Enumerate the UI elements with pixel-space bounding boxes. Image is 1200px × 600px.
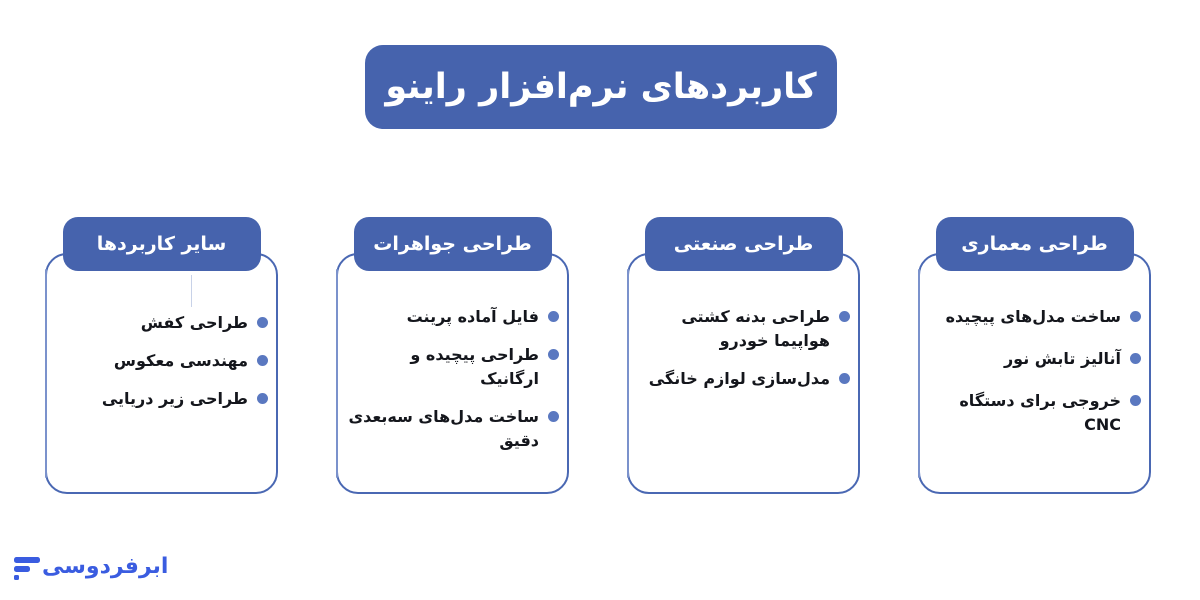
card-body-architectural-design: ساخت مدل‌های پیچیده آنالیز تابش نور خروج… [928,305,1141,451]
bullet-icon [548,349,559,360]
list-item-label: طراحی کفش [55,311,248,335]
bullet-icon [1130,353,1141,364]
infographic-canvas: کاربردهای نرم‌افزار راینو سایر کاربردها … [0,0,1200,600]
bullet-icon [548,411,559,422]
list-item-label: آنالیز تابش نور [928,347,1121,371]
bullet-icon [839,311,850,322]
card-title: طراحی جواهرات [373,233,531,256]
bullet-icon [257,317,268,328]
card-body-jewelry-design: فایل آماده پرینت طراحی پیچیده و ارگانیک … [346,305,559,467]
card-body-other-applications: طراحی کفش مهندسی معکوس طراحی زیر دریایی [55,311,268,425]
list-item-label: طراحی زیر دریایی [55,387,248,411]
card-architectural-design: طراحی معماری ساخت مدل‌های پیچیده آنالیز … [918,253,1151,494]
card-industrial-design: طراحی صنعتی طراحی بدنه کشتی هواپیما خودر… [627,253,860,494]
list-item: مدل‌سازی لوازم خانگی [637,367,850,391]
list-item: ساخت مدل‌های پیچیده [928,305,1141,329]
three-bars-icon [12,552,42,582]
list-item-label: مهندسی معکوس [55,349,248,373]
list-item-label: ساخت مدل‌های پیچیده [928,305,1121,329]
card-header-other-applications: سایر کاربردها [63,217,261,271]
list-item-label: فایل آماده پرینت [346,305,539,329]
list-item: فایل آماده پرینت [346,305,559,329]
card-title: طراحی معماری [961,233,1107,256]
card-title: سایر کاربردها [97,233,227,256]
bullet-icon [1130,395,1141,406]
list-item: آنالیز تابش نور [928,347,1141,371]
page-title: کاربردهای نرم‌افزار راینو [385,66,816,108]
list-item: طراحی بدنه کشتی هواپیما خودرو [637,305,850,353]
card-header-architectural-design: طراحی معماری [936,217,1134,271]
list-item-label: مدل‌سازی لوازم خانگی [637,367,830,391]
card-body-industrial-design: طراحی بدنه کشتی هواپیما خودرو مدل‌سازی ل… [637,305,850,405]
list-item: خروجی برای دستگاه CNC [928,389,1141,437]
list-item-label: طراحی پیچیده و ارگانیک [346,343,539,391]
brand-logo[interactable]: ابرفردوسی [12,552,178,582]
list-item: طراحی پیچیده و ارگانیک [346,343,559,391]
card-jewelry-design: طراحی جواهرات فایل آماده پرینت طراحی پیچ… [336,253,569,494]
bullet-icon [548,311,559,322]
list-item: ساخت مدل‌های سه‌بعدی دقیق [346,405,559,453]
page-title-banner: کاربردهای نرم‌افزار راینو [365,45,837,129]
cards-row: سایر کاربردها طراحی کفش مهندسی معکوس طرا… [0,205,1200,505]
card-header-industrial-design: طراحی صنعتی [645,217,843,271]
list-item: مهندسی معکوس [55,349,268,373]
card-title: طراحی صنعتی [674,233,814,256]
card-other-applications: سایر کاربردها طراحی کفش مهندسی معکوس طرا… [45,253,278,494]
bullet-icon [257,355,268,366]
bullet-icon [839,373,850,384]
brand-name: ابرفردوسی [42,556,168,578]
card-header-jewelry-design: طراحی جواهرات [354,217,552,271]
bullet-icon [1130,311,1141,322]
list-item: طراحی کفش [55,311,268,335]
list-item-label: طراحی بدنه کشتی هواپیما خودرو [637,305,830,353]
list-item-label: ساخت مدل‌های سه‌بعدی دقیق [346,405,539,453]
bullet-icon [257,393,268,404]
list-item-label: خروجی برای دستگاه CNC [928,389,1121,437]
list-item: طراحی زیر دریایی [55,387,268,411]
divider-artifact [191,275,193,307]
